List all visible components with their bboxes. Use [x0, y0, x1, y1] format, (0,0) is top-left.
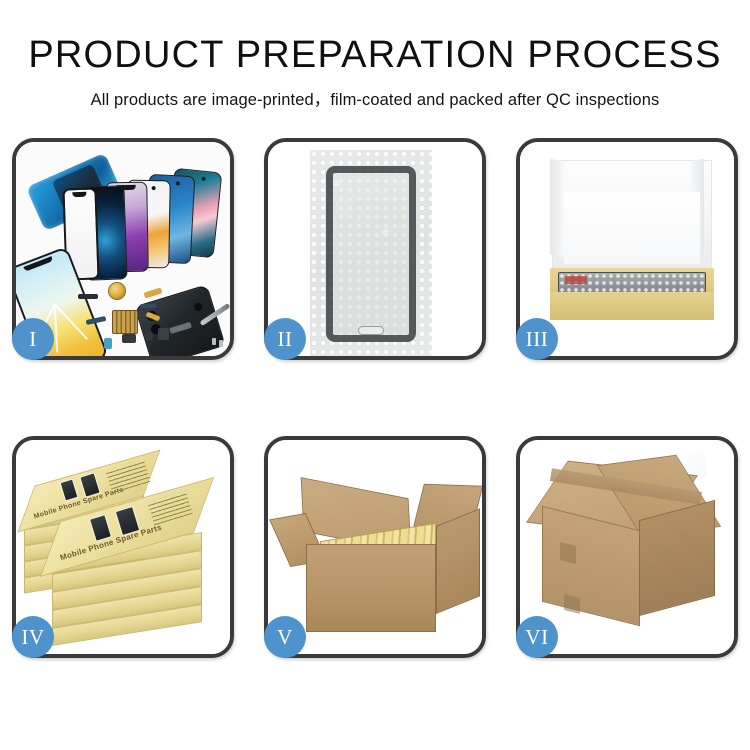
screen-warning-label: [565, 276, 587, 284]
step-badge-3: III: [516, 318, 558, 360]
step-badge-2: II: [264, 318, 306, 360]
carton-tab-lower: [564, 594, 580, 614]
carton-front-face: [306, 544, 436, 632]
taptic-engine-part: [158, 328, 169, 340]
flex-cable-part-d: [140, 304, 156, 308]
step-badge-5: V: [264, 616, 306, 658]
page-subtitle: All products are image-printed，film-coat…: [0, 86, 750, 110]
phone-screen-outline: [326, 166, 416, 342]
chip-array-part: [112, 310, 138, 334]
screw-part-a: [212, 338, 216, 345]
page-title: PRODUCT PREPARATION PROCESS: [0, 36, 750, 76]
process-step-panel-6[interactable]: VI: [516, 436, 738, 658]
step-badge-6: VI: [516, 616, 558, 658]
process-step-panel-5[interactable]: V: [264, 436, 486, 658]
carton-tab-upper: [560, 542, 576, 564]
bubble-wrapped-screen-photo: [310, 150, 432, 356]
screw-part-b: [219, 340, 223, 347]
process-step-panel-3[interactable]: III: [516, 138, 738, 360]
process-step-panel-1[interactable]: I: [12, 138, 234, 360]
product-preparation-infographic: PRODUCT PREPARATION PROCESS All products…: [0, 0, 750, 750]
header: PRODUCT PREPARATION PROCESS All products…: [0, 0, 750, 110]
process-step-grid: I II: [12, 138, 738, 658]
battery-connector-part: [104, 338, 112, 349]
speaker-mesh-part: [78, 294, 98, 299]
carton-right-face: [436, 508, 480, 614]
kraft-box-front-wall: [550, 292, 714, 320]
foam-insert: [564, 192, 700, 264]
earpiece-part: [144, 332, 153, 341]
step-badge-1: I: [12, 318, 54, 360]
step-badge-4: IV: [12, 616, 54, 658]
vibration-coil-part: [108, 282, 126, 300]
camera-module-part: [122, 334, 136, 343]
process-step-panel-4[interactable]: Mobile Phone Spare Parts Mobile Phone Sp…: [12, 436, 234, 658]
box-lid-flap-left: [550, 159, 564, 257]
process-step-panel-2[interactable]: II: [264, 138, 486, 360]
sealed-carton-right-face: [639, 500, 715, 616]
home-button: [358, 326, 384, 335]
